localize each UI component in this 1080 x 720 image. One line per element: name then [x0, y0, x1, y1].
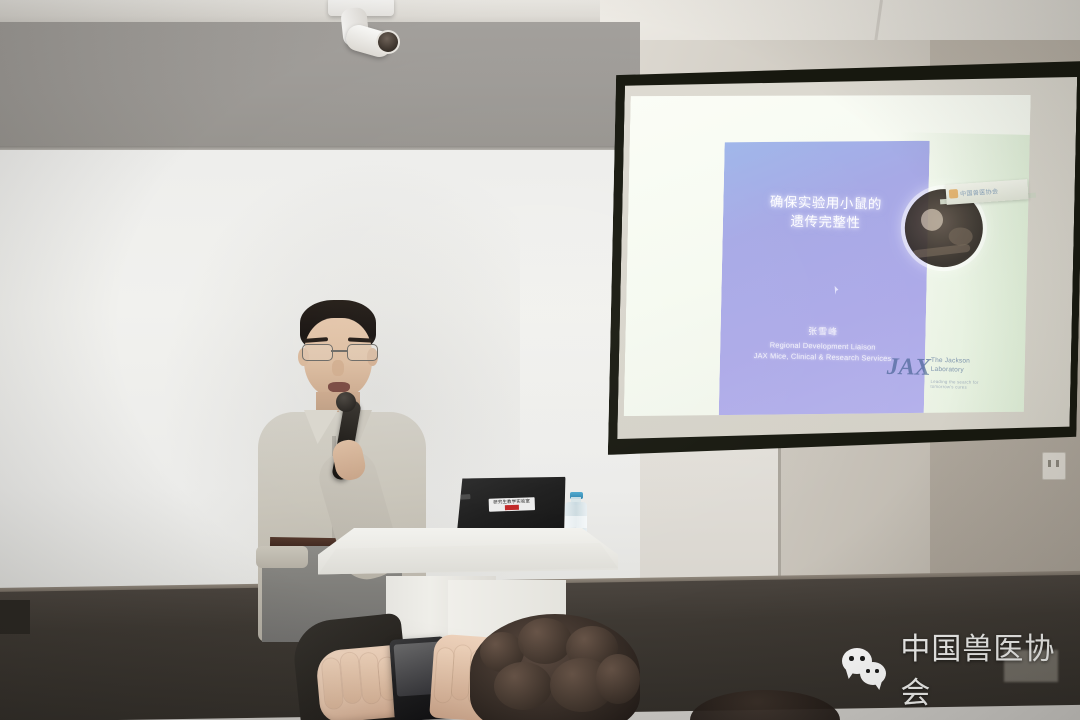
jax-logo-tagline: Leading the search for tomorrow's cures: [930, 379, 992, 390]
wechat-eye: [875, 669, 879, 673]
slide-title-line-2: 遗传完整性: [723, 211, 928, 235]
wechat-eye: [860, 656, 865, 661]
finger: [322, 658, 343, 709]
jax-logo-text: The Jackson Laboratory: [931, 357, 970, 375]
wechat-icon: [842, 648, 888, 688]
bottle-label: [565, 516, 587, 528]
glasses-lens-left: [302, 344, 333, 361]
laptop-brand-badge: [460, 494, 470, 500]
mouse-tail: [912, 244, 971, 259]
presenter-nose: [332, 360, 344, 376]
wechat-eye: [849, 656, 854, 661]
hair-curl: [494, 662, 552, 710]
wechat-eye: [866, 669, 870, 673]
security-camera: [318, 0, 404, 62]
slide-title: 确保实验用小鼠的 遗传完整性: [723, 192, 929, 235]
mouse-ear: [921, 209, 943, 231]
shirt-sleeve-cuff: [256, 546, 308, 568]
hair-curl: [518, 618, 572, 664]
finger: [359, 653, 380, 704]
projected-image: 确保实验用小鼠的 遗传完整性 张雪峰 Regional Development …: [624, 86, 1031, 425]
wechat-bubble-small: [860, 662, 886, 685]
watermark: 中国兽医协会: [842, 644, 1080, 692]
mouse-snout: [948, 227, 972, 246]
finger: [340, 652, 361, 703]
glasses-lens-right: [347, 344, 378, 361]
hair-curl: [596, 654, 640, 704]
slide-presenter-name: 张雪峰: [720, 322, 925, 339]
presentation-slide: 确保实验用小鼠的 遗传完整性 张雪峰 Regional Development …: [718, 136, 930, 442]
jackson-laboratory-logo: JAX The Jackson Laboratory Leading the s…: [886, 350, 993, 394]
glasses-bridge: [331, 350, 347, 352]
presentation-photo-scene: 确保实验用小鼠的 遗传完整性 张雪峰 Regional Development …: [0, 0, 1080, 720]
watermark-text: 中国兽医协会: [900, 624, 1080, 712]
finger: [434, 648, 454, 703]
mouse-cursor-icon: [834, 286, 838, 295]
audience-head: [470, 614, 640, 720]
jax-logo-line-2: Laboratory: [931, 366, 970, 376]
laptop-sticker: 研究生教学实验室: [489, 497, 535, 512]
jax-logo-mark: JAX: [887, 354, 928, 381]
projection-screen: 确保实验用小鼠的 遗传完整性 张雪峰 Regional Development …: [607, 51, 1080, 481]
laptop-sticker-accent: [505, 505, 519, 510]
eyeglasses-icon: [300, 344, 378, 360]
wainscot-left-edge: [0, 600, 30, 634]
